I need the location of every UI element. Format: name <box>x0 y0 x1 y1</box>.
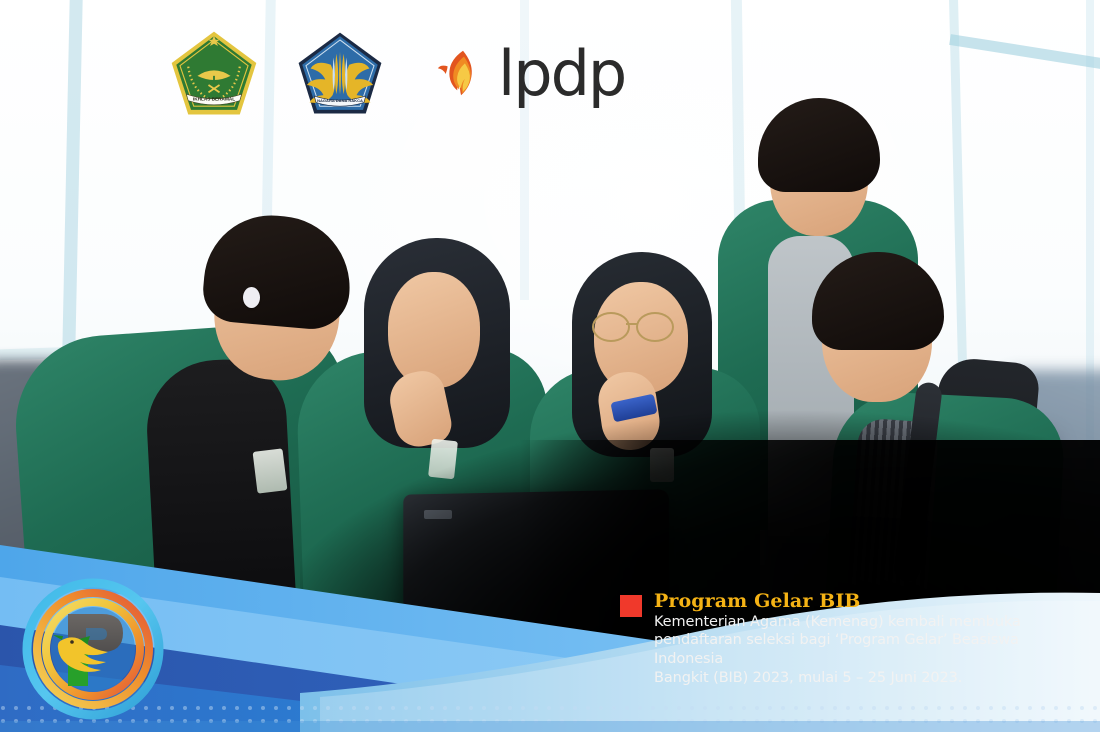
logo-row: IKHLAS BERAMAL <box>168 28 625 120</box>
caption-block: Program Gelar BIB Kementerian Agama (Kem… <box>620 592 1090 687</box>
svg-text:IKHLAS BERAMAL: IKHLAS BERAMAL <box>193 96 235 101</box>
eyeglasses-icon <box>592 312 692 338</box>
kemenkeu-pentagon-icon: NAGARA DANA RAKCA <box>294 28 386 120</box>
face <box>388 272 480 388</box>
poster-root: IKHLAS BERAMAL <box>0 0 1100 732</box>
lpdp-wordmark: lpdp <box>498 45 625 102</box>
kemenkeu-logo: NAGARA DANA RAKCA <box>294 28 386 120</box>
caption-marker-icon <box>620 595 642 617</box>
kemenag-pentagon-icon: IKHLAS BERAMAL <box>168 28 260 120</box>
caption-title: Program Gelar BIB <box>654 592 1090 612</box>
earbud-icon <box>243 287 260 308</box>
svg-text:NAGARA DANA RAKCA: NAGARA DANA RAKCA <box>317 98 363 103</box>
brand-logo <box>22 578 164 720</box>
flame-icon <box>434 45 492 103</box>
kemenag-logo: IKHLAS BERAMAL <box>168 28 260 120</box>
caption-body: Kementerian Agama (Kemenag) kembali memb… <box>654 613 1090 687</box>
jacket-badge <box>253 448 288 493</box>
lpdp-logo: lpdp <box>434 45 625 103</box>
